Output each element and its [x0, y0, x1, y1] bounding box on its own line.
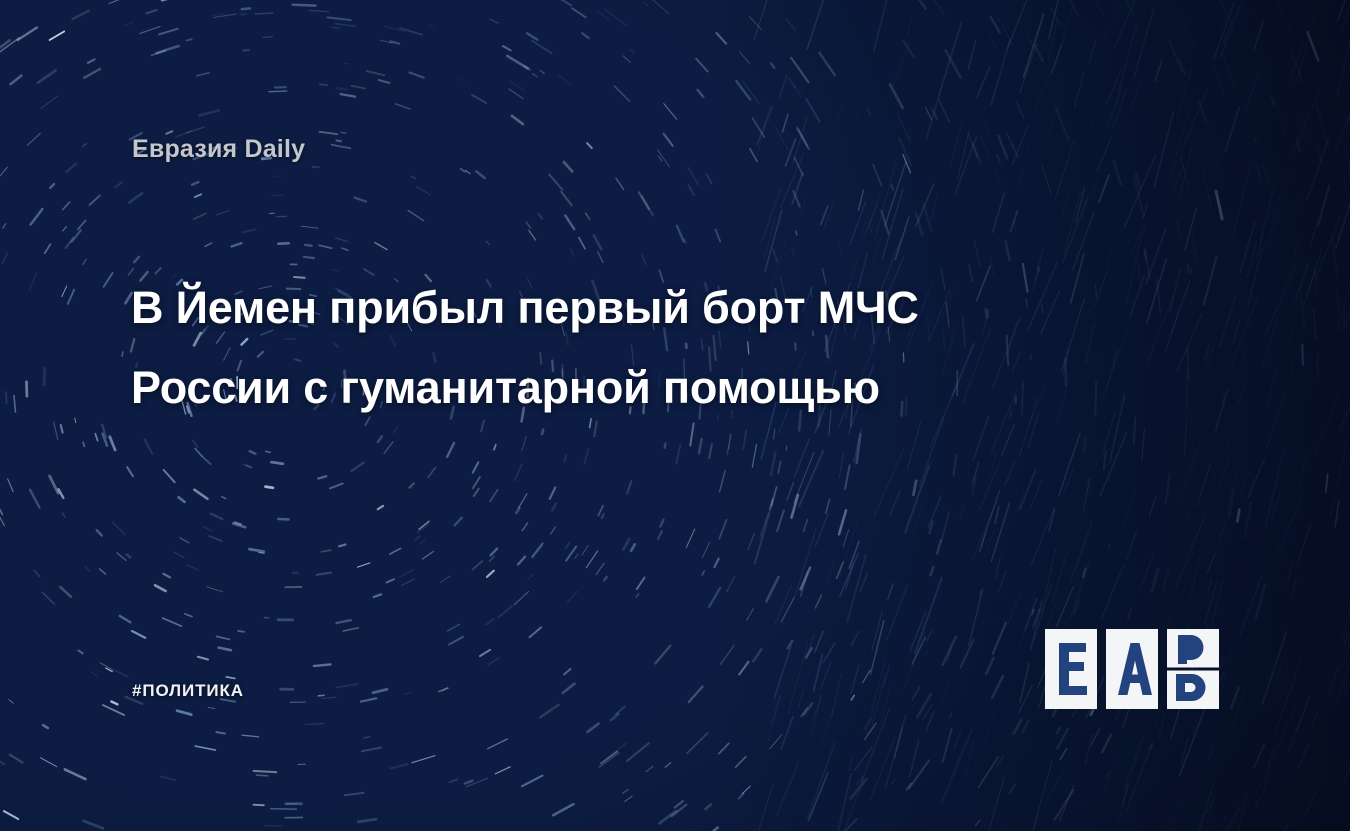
category-hashtag[interactable]: #ПОЛИТИКА — [132, 681, 244, 701]
headline-line-1: В Йемен прибыл первый борт МЧС — [131, 268, 1121, 348]
brand-name: Евразия Daily — [132, 135, 305, 164]
eadaily-logo — [1045, 629, 1220, 709]
eadaily-logo-icon — [1045, 629, 1220, 709]
news-share-card: Евразия Daily В Йемен прибыл первый борт… — [0, 0, 1350, 831]
headline: В Йемен прибыл первый борт МЧС России с … — [131, 268, 1121, 428]
headline-line-2: России с гуманитарной помощью — [131, 348, 1121, 428]
